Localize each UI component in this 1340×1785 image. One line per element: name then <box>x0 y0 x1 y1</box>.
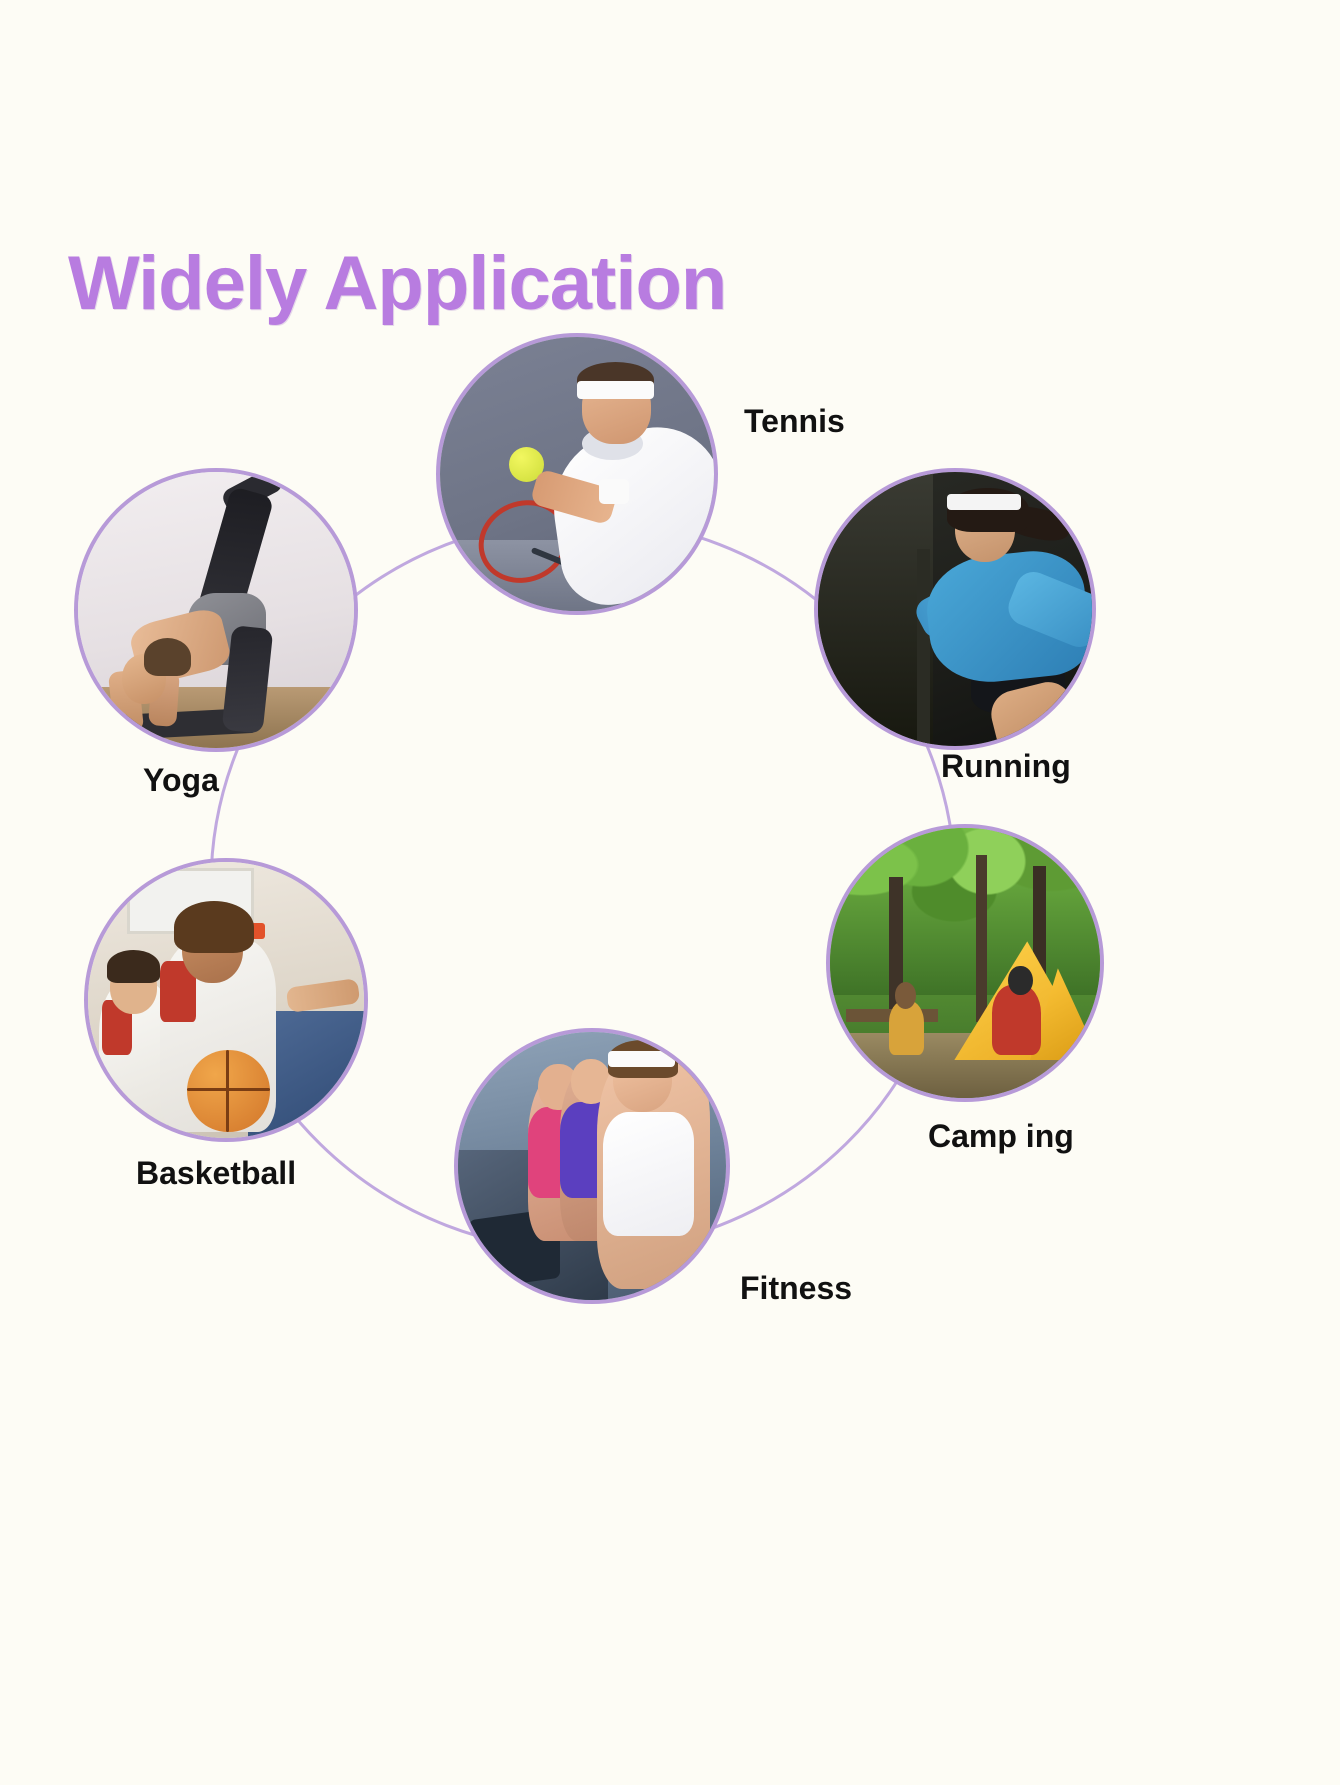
node-basketball[interactable] <box>88 862 364 1138</box>
fitness-circle[interactable] <box>458 1032 726 1300</box>
yoga-circle[interactable] <box>78 472 354 748</box>
label-running: Running <box>941 748 1071 785</box>
node-fitness[interactable] <box>458 1032 726 1300</box>
label-camping: Camp ing <box>928 1118 1074 1155</box>
basketball-circle[interactable] <box>88 862 364 1138</box>
node-tennis[interactable] <box>440 337 714 611</box>
label-fitness: Fitness <box>740 1270 852 1307</box>
widely-application-infographic: Widely Application Tennis <box>0 0 1340 1785</box>
label-tennis: Tennis <box>744 403 845 440</box>
node-yoga[interactable] <box>78 472 354 748</box>
camping-tent-photo <box>830 828 1100 1098</box>
camping-circle[interactable] <box>830 828 1100 1098</box>
node-camping[interactable] <box>830 828 1100 1098</box>
label-yoga: Yoga <box>143 762 219 799</box>
yoga-backbend-photo <box>78 472 354 748</box>
basketball-player-photo <box>88 862 364 1138</box>
running-circle[interactable] <box>818 472 1092 746</box>
treadmill-women-photo <box>458 1032 726 1300</box>
tennis-player-photo <box>440 337 714 611</box>
tennis-circle[interactable] <box>440 337 714 611</box>
node-running[interactable] <box>818 472 1092 746</box>
running-woman-photo <box>818 472 1092 746</box>
label-basketball: Basketball <box>136 1155 296 1192</box>
